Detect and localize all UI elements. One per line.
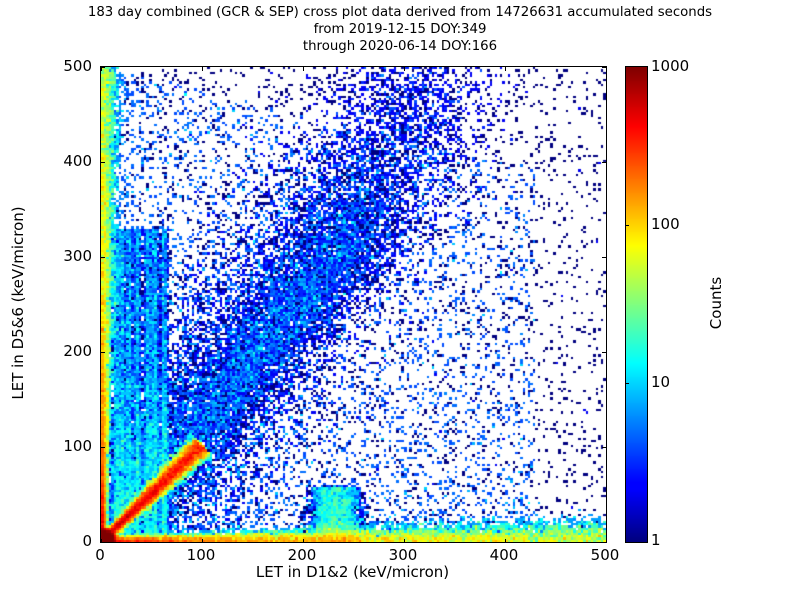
x-tick-mark-top [404,67,405,71]
y-tick-mark [101,542,105,543]
x-tick-mark-top [202,67,203,71]
colorbar [625,66,648,543]
x-axis-label: LET in D1&2 (keV/micron) [100,563,605,581]
y-tick-mark [101,352,105,353]
x-tick-label: 200 [288,546,317,564]
x-tick-mark [606,539,607,543]
y-tick-mark-right [602,257,606,258]
x-tick-label: 400 [490,546,519,564]
x-tick-label: 500 [591,546,620,564]
y-tick-mark-right [602,542,606,543]
y-axis-label: LET in D5&6 (keV/micron) [9,206,27,399]
y-tick-label: 0 [40,532,92,550]
y-tick-mark [101,447,105,448]
colorbar-label: Counts [707,277,725,329]
colorbar-tick-mark [625,225,629,226]
x-tick-label: 0 [95,546,105,564]
colorbar-tick-label: 100 [651,215,680,233]
y-tick-mark-right [602,162,606,163]
x-tick-mark-top [303,67,304,71]
title-line-3: through 2020-06-14 DOY:166 [0,38,800,55]
x-tick-mark-top [505,67,506,71]
y-tick-mark [101,162,105,163]
x-tick-mark [303,539,304,543]
colorbar-tick-mark [625,383,629,384]
y-tick-mark-right [602,352,606,353]
y-tick-mark [101,67,105,68]
chart-title: 183 day combined (GCR & SEP) cross plot … [0,4,800,55]
y-tick-mark-right [602,447,606,448]
x-tick-label: 100 [187,546,216,564]
x-tick-mark-top [606,67,607,71]
chart-page: 183 day combined (GCR & SEP) cross plot … [0,0,800,600]
y-tick-label: 500 [40,57,92,75]
x-tick-mark [505,539,506,543]
y-tick-label: 100 [40,437,92,455]
colorbar-tick-label: 1 [651,531,661,549]
title-line-1: 183 day combined (GCR & SEP) cross plot … [0,4,800,21]
plot-area [100,66,607,543]
y-tick-label: 400 [40,152,92,170]
colorbar-gradient-canvas [626,67,647,542]
x-tick-mark [404,539,405,543]
density-heatmap-canvas [101,67,606,542]
y-tick-label: 300 [40,247,92,265]
y-tick-mark-right [602,67,606,68]
colorbar-tick-label: 1000 [651,57,689,75]
x-tick-label: 300 [389,546,418,564]
y-tick-label: 200 [40,342,92,360]
colorbar-tick-label: 10 [651,373,670,391]
x-tick-mark [202,539,203,543]
title-line-2: from 2019-12-15 DOY:349 [0,21,800,38]
y-tick-mark [101,257,105,258]
